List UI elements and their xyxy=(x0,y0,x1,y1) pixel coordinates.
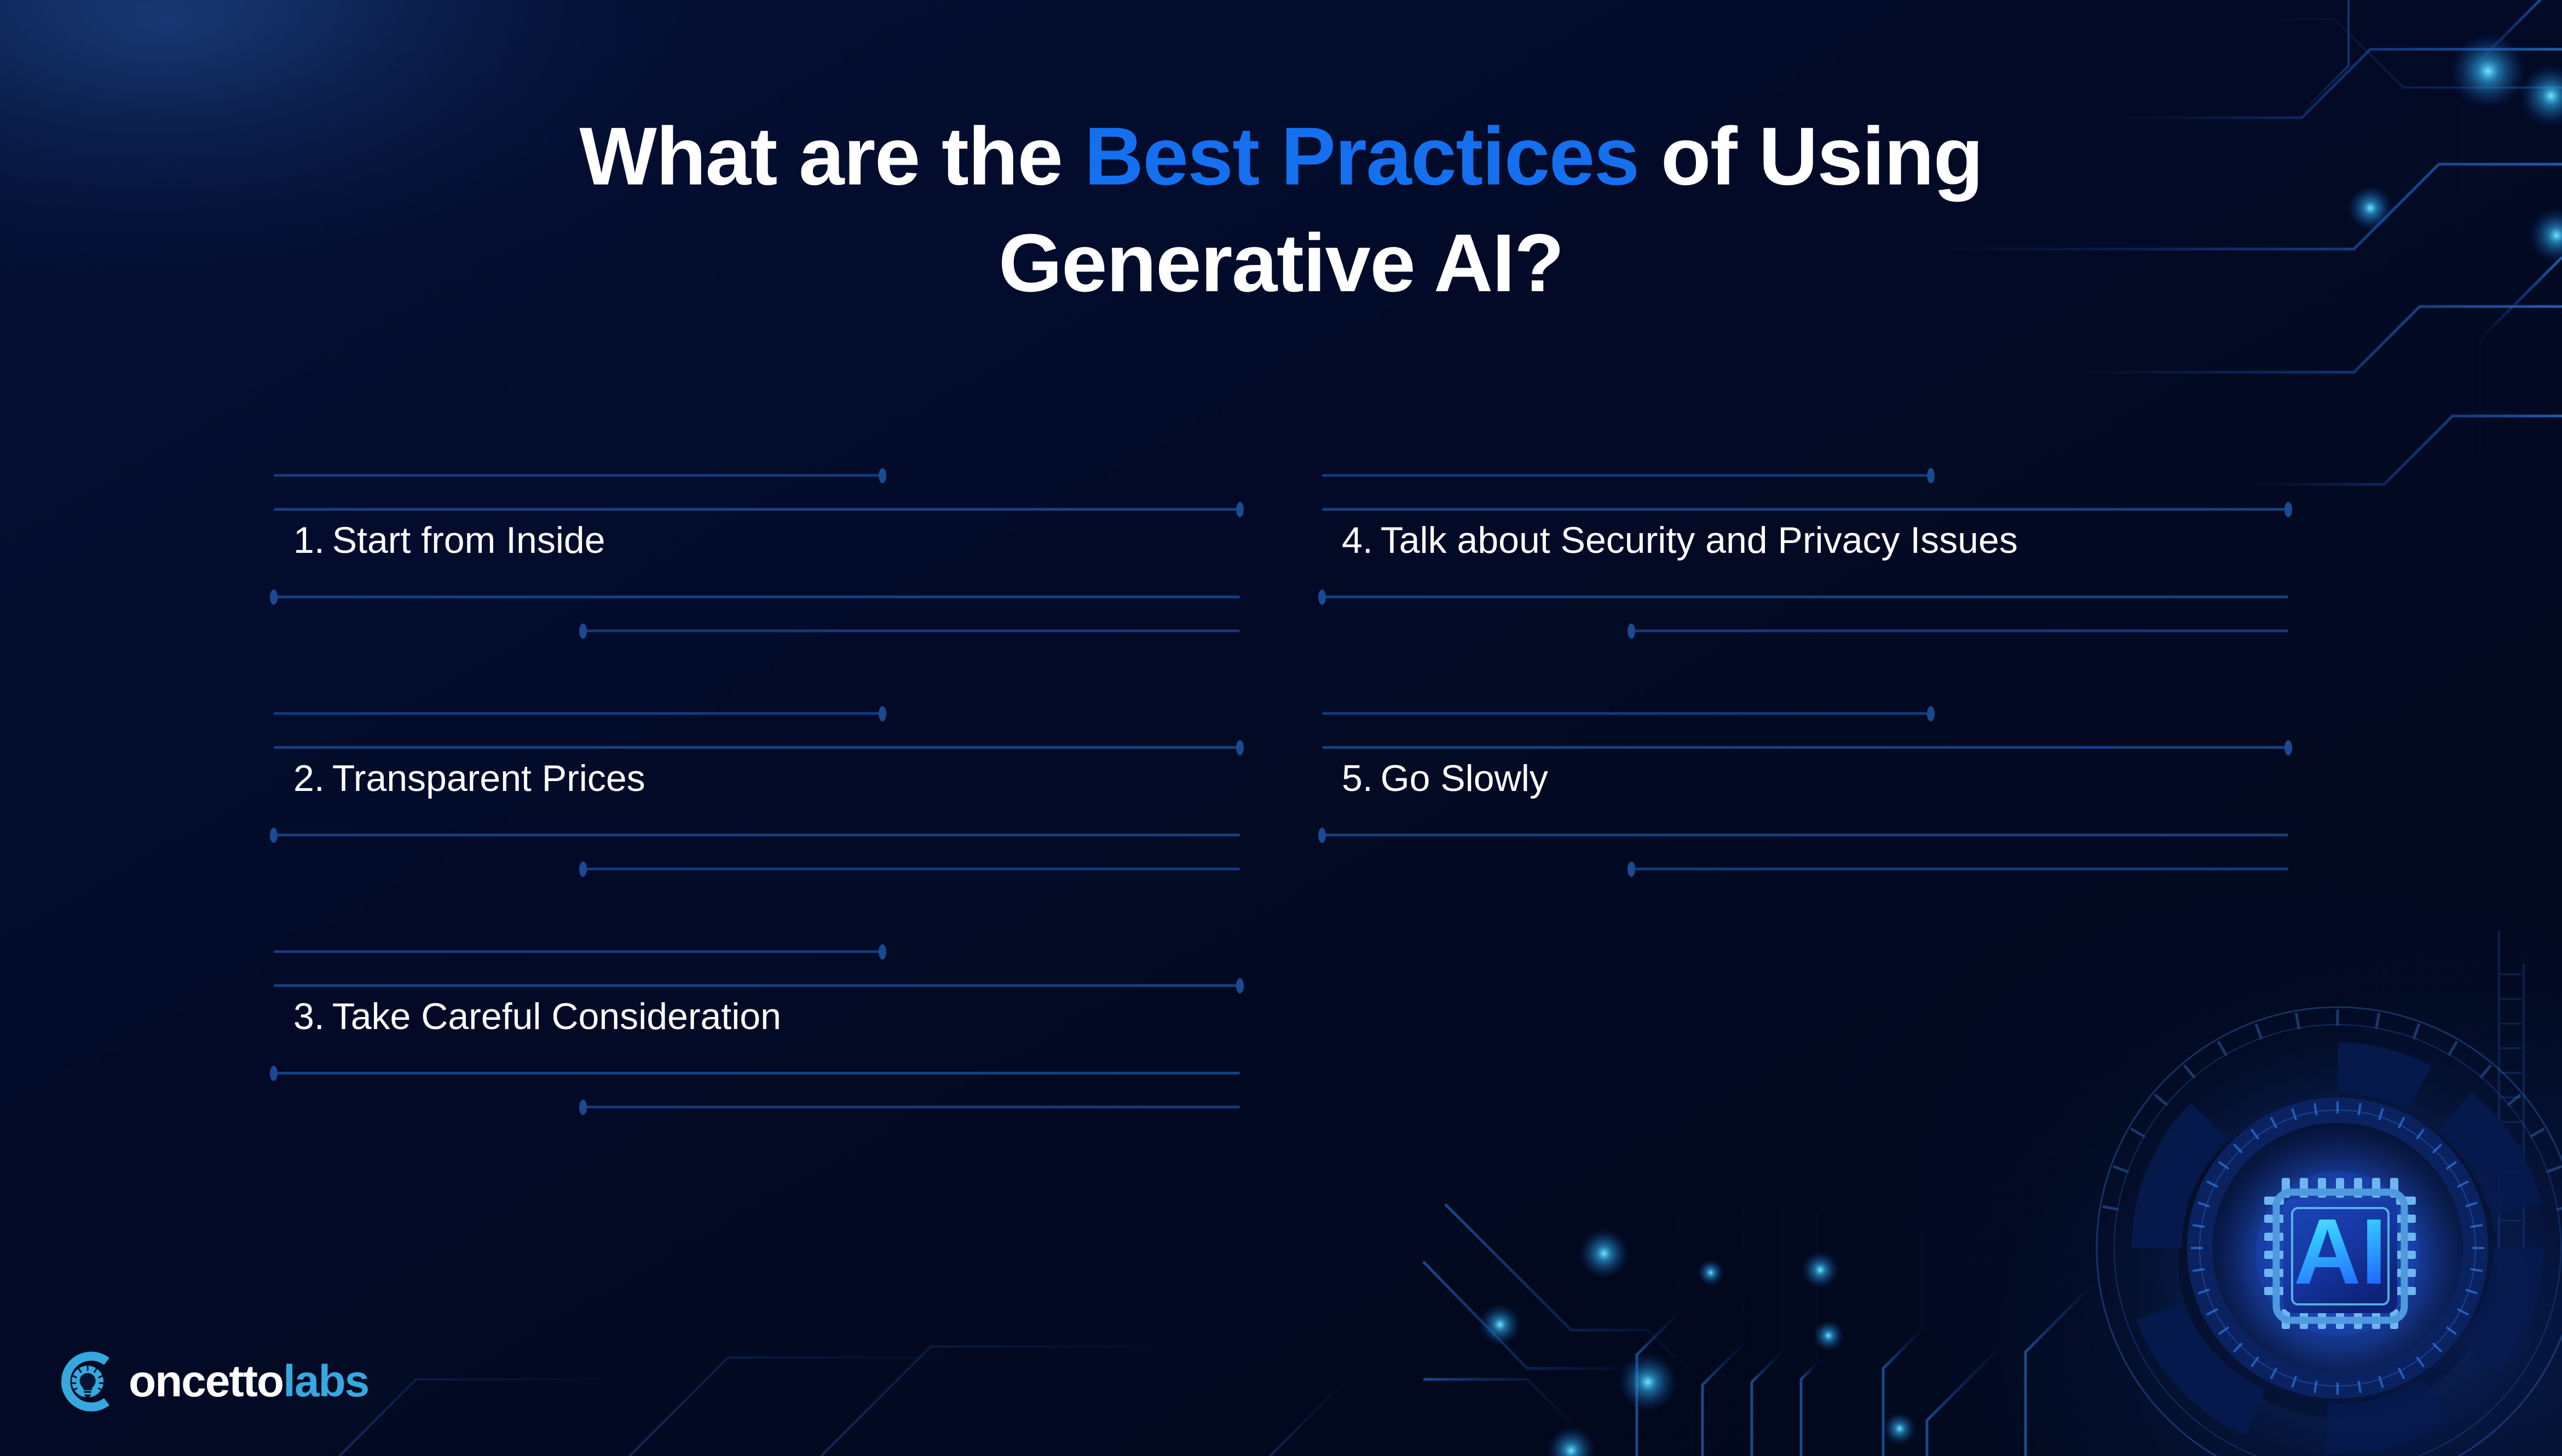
circuit-node-icon xyxy=(270,1066,278,1081)
title-line-1: What are the Best Practices of Using xyxy=(230,103,2332,210)
circuit-line-top-short xyxy=(1322,712,1931,715)
circuit-node-icon xyxy=(1236,502,1244,517)
circuit-node-icon xyxy=(879,706,886,721)
circuit-node-icon xyxy=(270,590,278,605)
circuit-node-icon xyxy=(1927,468,1935,483)
circuit-node-icon xyxy=(1318,590,1326,605)
circuit-node-icon xyxy=(1927,706,1935,721)
circuit-line-top-short xyxy=(1322,474,1931,477)
list-item-1[interactable]: 1.Start from Inside xyxy=(274,454,1240,692)
circuit-node-icon xyxy=(579,862,587,877)
list-item-text: Take Careful Consideration xyxy=(332,996,781,1037)
list-item-label: 3.Take Careful Consideration xyxy=(293,996,781,1037)
circuit-line-top-short xyxy=(274,712,882,715)
list-item-number: 2. xyxy=(293,758,325,799)
circuit-node-icon xyxy=(1236,978,1244,993)
circuit-line-top-long xyxy=(274,508,1240,511)
title-text-accent: Best Practices xyxy=(1084,110,1639,202)
circuit-line-top-long xyxy=(274,984,1240,987)
list-item-4[interactable]: 4.Talk about Security and Privacy Issues xyxy=(1322,454,2288,692)
circuit-node-icon xyxy=(270,828,278,843)
best-practices-list: 1.Start from Inside 4.Talk about Securit… xyxy=(0,454,2562,1169)
slide-canvas: What are the Best Practices of Using Gen… xyxy=(0,0,2562,1456)
list-cell-empty xyxy=(1322,931,2288,1169)
cpu-chip-icon: AI xyxy=(2264,1178,2416,1329)
logo-wordmark: oncettolabs xyxy=(129,1359,368,1404)
list-item-number: 3. xyxy=(293,996,325,1037)
circuit-node-icon xyxy=(1628,623,1635,639)
logo-word-white: oncetto xyxy=(129,1356,283,1406)
circuit-node-icon xyxy=(1628,862,1635,877)
circuit-node-icon xyxy=(1318,828,1326,843)
circuit-line-top-long xyxy=(274,746,1240,749)
circuit-line-bottom-short xyxy=(583,1106,1240,1108)
list-item-label: 4.Talk about Security and Privacy Issues xyxy=(1342,520,2018,561)
title-text-post: of Using xyxy=(1639,110,1983,202)
list-item-3[interactable]: 3.Take Careful Consideration xyxy=(274,931,1240,1169)
circuit-node-icon xyxy=(879,944,886,960)
chip-ai-label: AI xyxy=(2294,1200,2387,1304)
circuit-line-top-long xyxy=(1322,746,2288,749)
list-item-2[interactable]: 2.Transparent Prices xyxy=(274,692,1240,931)
circuit-line-bottom-short xyxy=(1631,629,2288,632)
list-item-text: Transparent Prices xyxy=(332,758,645,799)
title-text-pre: What are the xyxy=(579,110,1084,202)
list-item-text: Go Slowly xyxy=(1381,758,1548,799)
list-item-label: 1.Start from Inside xyxy=(293,520,605,561)
list-item-label: 2.Transparent Prices xyxy=(293,758,645,799)
circuit-line-bottom-long xyxy=(274,596,1240,598)
lightbulb-in-c-ring-icon xyxy=(57,1350,121,1413)
circuit-node-icon xyxy=(1236,740,1244,755)
circuit-line-top-short xyxy=(274,474,882,477)
list-item-number: 4. xyxy=(1342,519,1373,561)
circuit-node-icon xyxy=(2284,740,2292,755)
circuit-node-icon xyxy=(579,623,587,639)
circuit-line-bottom-short xyxy=(583,868,1240,870)
circuit-node-icon xyxy=(879,468,886,483)
circuit-line-bottom-long xyxy=(274,1072,1240,1074)
circuit-line-bottom-long xyxy=(1322,834,2288,836)
page-title: What are the Best Practices of Using Gen… xyxy=(0,103,2562,316)
list-item-text: Talk about Security and Privacy Issues xyxy=(1381,519,2018,561)
concetto-labs-logo[interactable]: oncettolabs xyxy=(57,1350,368,1413)
circuit-line-top-long xyxy=(1322,508,2288,511)
circuit-line-bottom-short xyxy=(583,629,1240,632)
list-item-text: Start from Inside xyxy=(332,519,605,561)
list-item-label: 5.Go Slowly xyxy=(1342,758,1548,799)
logo-word-blue: labs xyxy=(283,1356,368,1406)
circuit-node-icon xyxy=(579,1100,587,1115)
circuit-line-top-short xyxy=(274,950,882,953)
circuit-line-bottom-long xyxy=(274,834,1240,836)
circuit-node-icon xyxy=(2284,502,2292,517)
circuit-line-bottom-long xyxy=(1322,596,2288,598)
list-item-5[interactable]: 5.Go Slowly xyxy=(1322,692,2288,931)
list-item-number: 1. xyxy=(293,519,325,561)
circuit-line-bottom-short xyxy=(1631,868,2288,870)
title-line-2: Generative AI? xyxy=(230,210,2332,316)
list-item-number: 5. xyxy=(1342,758,1373,799)
